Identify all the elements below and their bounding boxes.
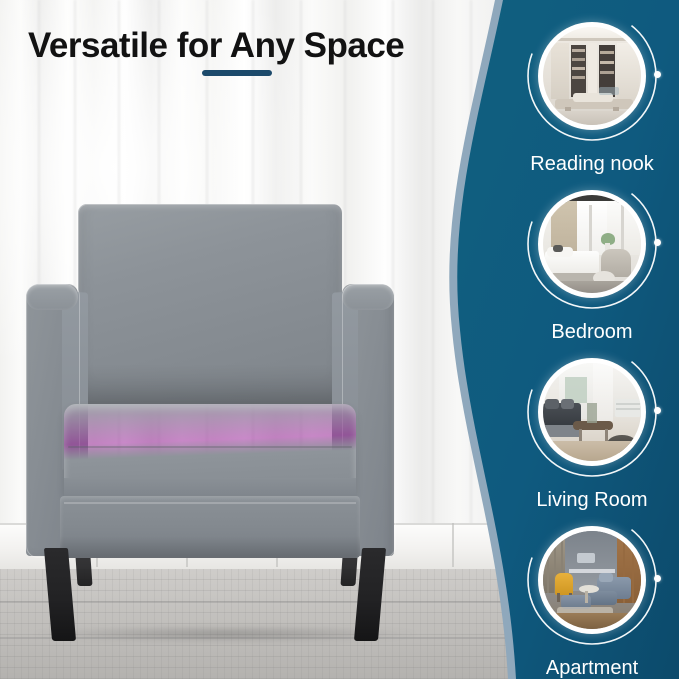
scene-apartment (543, 531, 641, 629)
title-underline-accent (202, 70, 272, 76)
scene-living-room (543, 363, 641, 461)
product-armchair (22, 196, 428, 641)
card-arc-dot (654, 575, 661, 582)
card-bedroom[interactable]: Bedroom (512, 176, 672, 344)
scene-bedroom (543, 195, 641, 293)
card-label-reading-nook: Reading nook (512, 153, 672, 176)
card-reading-nook[interactable]: Reading nook (512, 8, 672, 176)
scene-reading-nook (543, 27, 641, 125)
chair-front-right-leg (354, 548, 386, 641)
card-label-apartment: Apartment (512, 657, 672, 679)
card-arc-dot (654, 239, 661, 246)
page-title: Versatile for Any Space (28, 26, 404, 66)
card-label-bedroom: Bedroom (512, 321, 672, 344)
card-arc-dot (654, 71, 661, 78)
card-living-room[interactable]: Living Room (512, 344, 672, 512)
chair-front-left-leg (44, 548, 76, 641)
card-label-living-room: Living Room (512, 489, 672, 512)
card-arc-dot (654, 407, 661, 414)
marketing-image: Versatile for Any Space (0, 0, 679, 679)
card-apartment[interactable]: Apartment (512, 512, 672, 679)
